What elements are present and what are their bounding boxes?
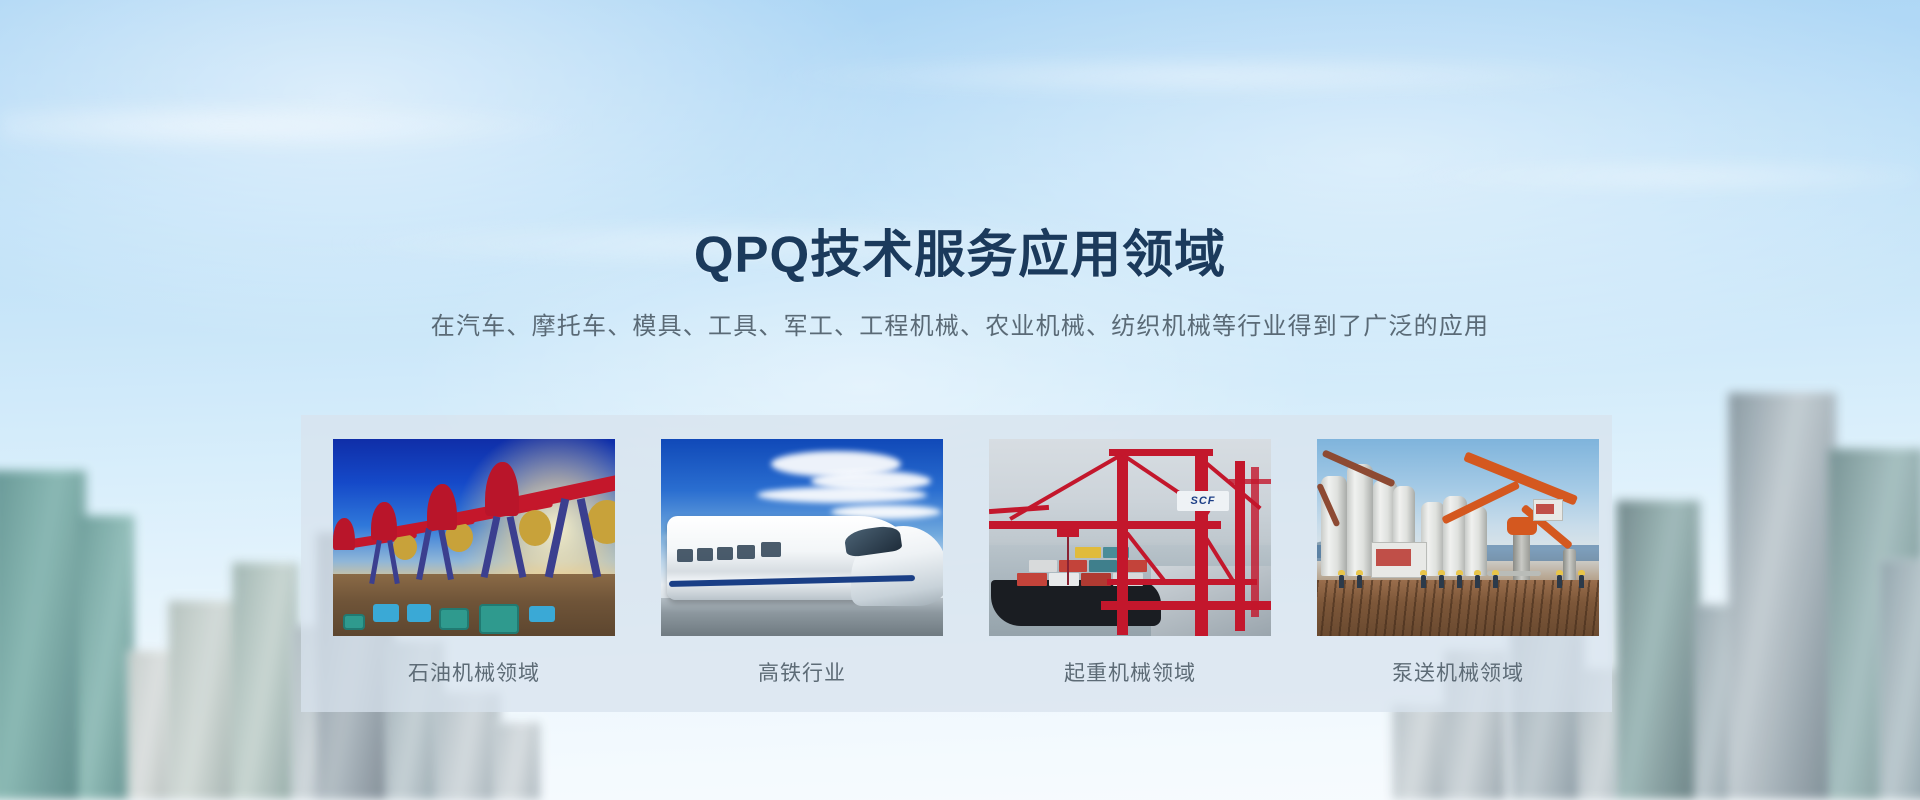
application-card-label: 泵送机械领域 xyxy=(1317,657,1599,687)
container xyxy=(1049,573,1079,586)
cement-silo xyxy=(1347,464,1373,576)
crane-sill xyxy=(1101,601,1271,610)
wellhead-valve xyxy=(529,606,555,622)
application-card[interactable]: SCF 起重机械领域 xyxy=(989,415,1271,687)
crane-stay xyxy=(1009,453,1122,520)
page-subtitle: 在汽车、摩托车、模具、工具、军工、工程机械、农业机械、纺织机械等行业得到了广泛的… xyxy=(0,306,1920,341)
container xyxy=(1089,560,1117,572)
building xyxy=(78,515,134,800)
wellhead-valve xyxy=(343,614,365,630)
hero-heading-block: QPQ技术服务应用领域 在汽车、摩托车、模具、工具、军工、工程机械、农业机械、纺… xyxy=(0,0,1920,341)
building xyxy=(0,470,86,800)
wellhead-valve xyxy=(479,604,519,634)
train-window xyxy=(677,549,693,562)
construction-worker xyxy=(1357,575,1362,588)
container xyxy=(1059,560,1087,572)
building xyxy=(1392,704,1444,800)
page-title: QPQ技术服务应用领域 xyxy=(0,228,1920,282)
wellhead-valve xyxy=(373,604,399,622)
crane-marking: SCF xyxy=(1177,491,1229,511)
application-card-label: 高铁行业 xyxy=(661,657,943,687)
application-card-label: 石油机械领域 xyxy=(333,657,615,687)
container xyxy=(1075,547,1101,558)
crane-boom xyxy=(989,521,1221,529)
port-gantry-cranes-photo[interactable]: SCF xyxy=(989,439,1271,636)
cloud xyxy=(757,487,927,503)
site-banner xyxy=(1371,542,1427,578)
train-window xyxy=(737,545,755,559)
train-window xyxy=(697,548,713,561)
crane-trolley xyxy=(1057,527,1079,537)
construction-worker xyxy=(1579,575,1584,588)
construction-worker xyxy=(1493,575,1498,588)
construction-worker xyxy=(1439,575,1444,588)
container xyxy=(1017,573,1047,586)
construction-worker xyxy=(1557,575,1562,588)
concrete-pump-machinery-photo[interactable] xyxy=(1317,439,1599,636)
building xyxy=(128,650,172,800)
building xyxy=(1880,560,1920,800)
crane-leg xyxy=(1251,467,1259,617)
crane-boom xyxy=(1229,479,1271,484)
application-card[interactable]: 石油机械领域 xyxy=(333,415,615,687)
cement-silo xyxy=(1465,506,1487,576)
application-card[interactable]: 泵送机械领域 xyxy=(1317,415,1599,687)
high-speed-train-photo[interactable] xyxy=(661,439,943,636)
oil-pumpjacks-at-sunset-photo[interactable] xyxy=(333,439,615,636)
container xyxy=(1029,560,1057,572)
crane-hoist-cable xyxy=(1067,537,1069,585)
application-fields-panel: 石油机械领域 高铁行业 xyxy=(301,415,1612,712)
construction-worker xyxy=(1475,575,1480,588)
wellhead-valve xyxy=(407,604,431,622)
building xyxy=(232,562,298,800)
building xyxy=(1616,500,1700,800)
wellhead-valve xyxy=(439,608,469,630)
building xyxy=(494,722,540,800)
application-card[interactable]: 高铁行业 xyxy=(661,415,943,687)
construction-worker xyxy=(1421,575,1426,588)
train-window xyxy=(717,547,733,560)
rebar-grid xyxy=(1317,580,1599,636)
building xyxy=(1728,392,1836,800)
control-box xyxy=(1533,499,1563,521)
application-card-label: 起重机械领域 xyxy=(989,657,1271,687)
building xyxy=(168,600,238,800)
construction-worker xyxy=(1457,575,1462,588)
train-window xyxy=(761,542,781,557)
construction-worker xyxy=(1339,575,1344,588)
